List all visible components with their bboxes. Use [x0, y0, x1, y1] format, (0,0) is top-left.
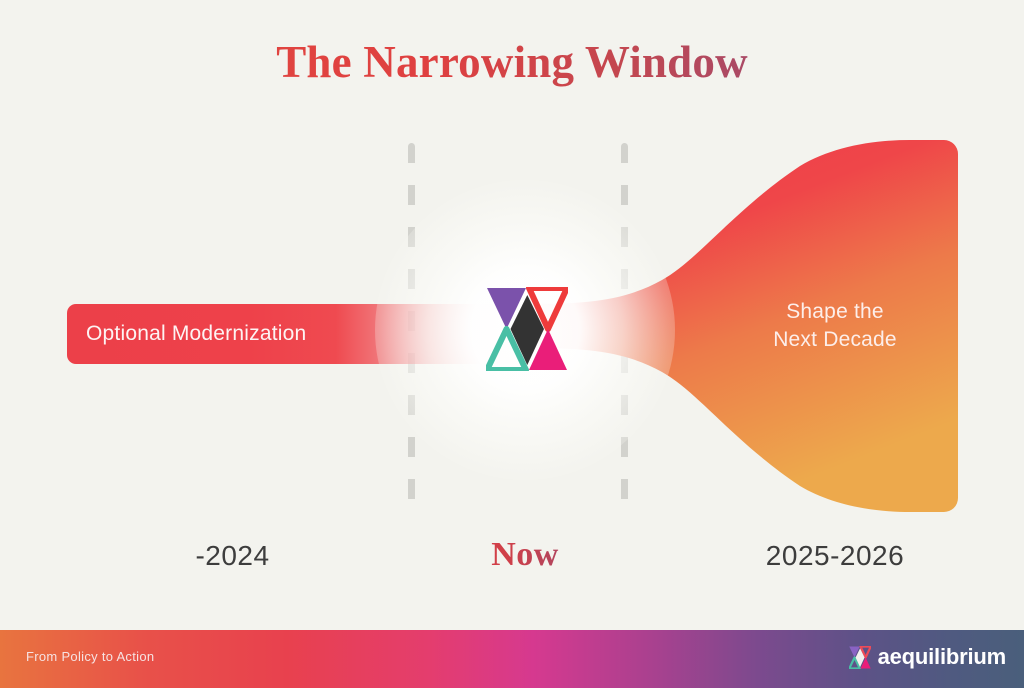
future-flare-label-line1: Shape the [716, 298, 954, 326]
past-bar-label: Optional Modernization [86, 304, 306, 364]
aequilibrium-hourglass-icon [849, 646, 871, 669]
footer-brand: aequilibrium [849, 644, 1006, 670]
future-flare-label-line2: Next Decade [716, 326, 954, 354]
future-flare-label: Shape the Next Decade [716, 298, 954, 354]
aequilibrium-hourglass-icon [486, 287, 568, 371]
footer-brand-name: aequilibrium [878, 644, 1006, 670]
footer-tagline: From Policy to Action [26, 649, 154, 664]
axis-label-future: 2025-2026 [712, 540, 958, 572]
page-title: The Narrowing Window [0, 36, 1024, 88]
axis-label-now: Now [430, 536, 620, 574]
footer-bar: From Policy to Action aequilibrium [0, 630, 1024, 688]
axis-label-past: -2024 [140, 540, 325, 572]
infographic-canvas: The Narrowing Window Optional Modernizat… [0, 0, 1024, 688]
